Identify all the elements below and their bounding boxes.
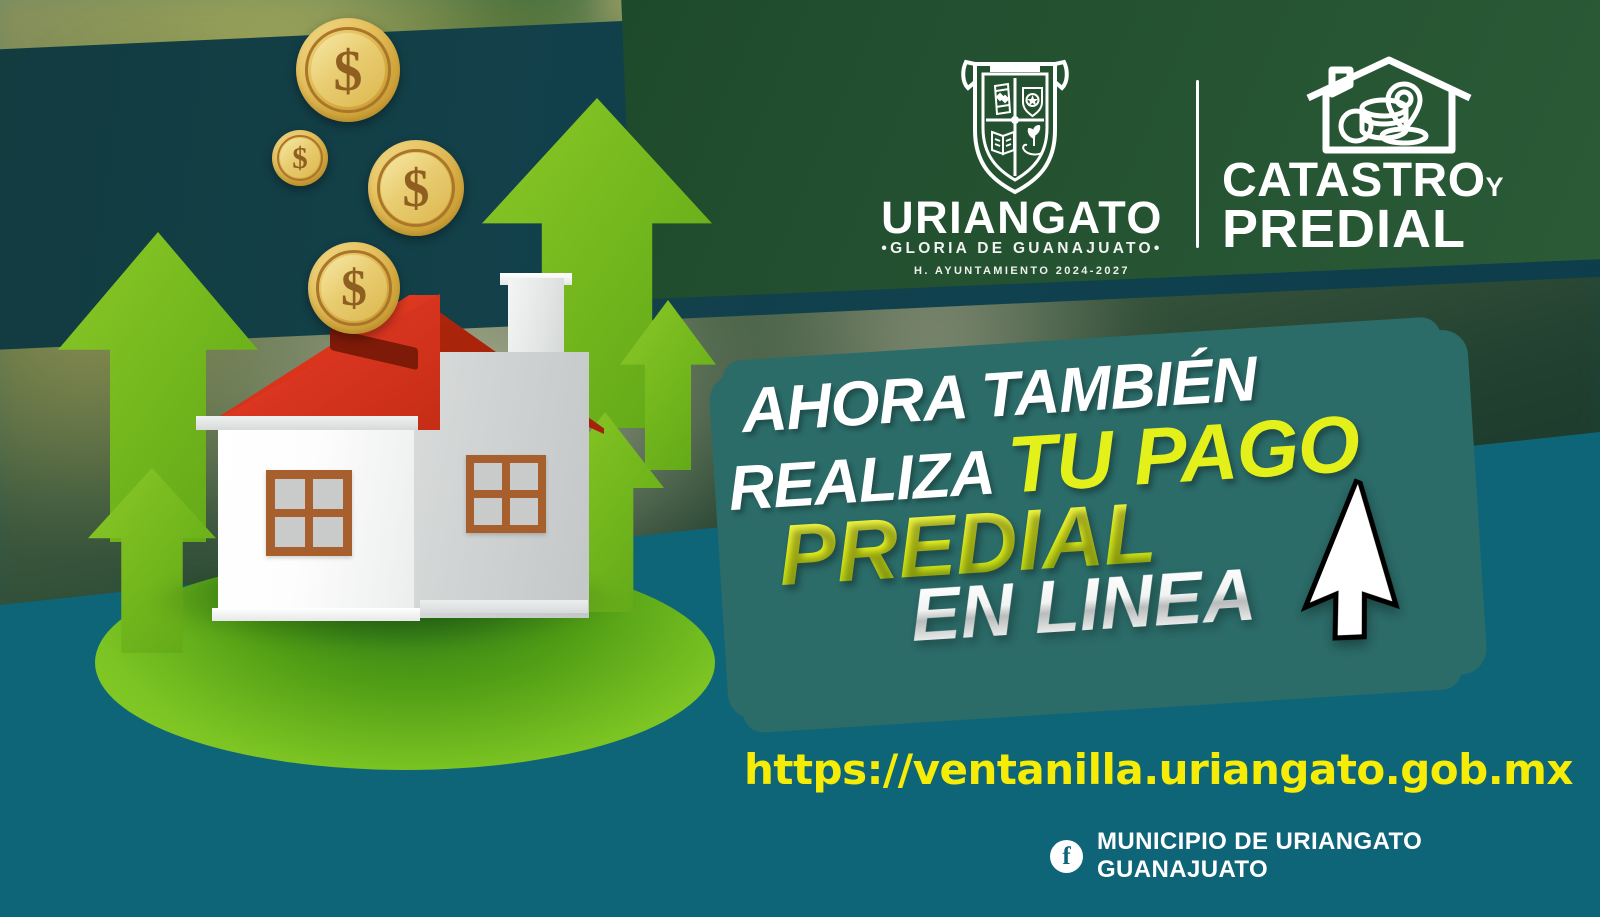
facebook-page-name[interactable]: MUNICIPIO DE URIANGATO GUANAJUATO — [1097, 828, 1600, 884]
municipal-coat-of-arms-icon — [950, 52, 1080, 207]
roof-edge-trim — [196, 416, 418, 430]
window-pane — [275, 517, 305, 547]
coin-2: $ — [272, 130, 328, 186]
hand-plant-glyph — [1023, 126, 1043, 154]
house-with-coins-and-map-pin-icon — [1300, 52, 1478, 162]
star-shield-glyph — [1023, 88, 1042, 116]
window-pane — [510, 498, 538, 525]
window-pane — [474, 498, 502, 525]
house-base-side — [420, 600, 588, 613]
window-pane — [474, 463, 502, 490]
vertical-divider — [1196, 80, 1199, 248]
coin-1: $ — [296, 18, 400, 122]
open-book-glyph — [992, 132, 1014, 154]
municipality-tagline: •GLORIA DE GUANAJUATO• — [872, 240, 1172, 258]
textile-glyph — [995, 84, 1010, 114]
coin-dollar-symbol: $ — [368, 140, 464, 236]
coin-dollar-symbol: $ — [272, 130, 328, 186]
window-pane — [510, 463, 538, 490]
social-media-row[interactable]: f MUNICIPIO DE URIANGATO GUANAJUATO — [1050, 828, 1600, 884]
municipality-administration: H. AYUNTAMIENTO 2024-2027 — [872, 265, 1172, 277]
coin-4: $ — [308, 242, 400, 334]
house-base-front — [212, 608, 420, 621]
coin-3: $ — [368, 140, 464, 236]
coin-dollar-symbol: $ — [308, 242, 400, 334]
window-pane — [313, 517, 343, 547]
department-line-2: PREDIAL — [1222, 204, 1552, 255]
window-pane — [275, 479, 305, 509]
coin-dollar-symbol: $ — [296, 18, 400, 122]
department-title: CATASTROY PREDIAL — [1222, 158, 1552, 255]
municipality-name: URIANGATO — [872, 192, 1172, 244]
department-conjunction: Y — [1486, 172, 1504, 202]
window-pane — [313, 479, 343, 509]
house-window-front — [266, 470, 352, 556]
house-window-side — [466, 455, 546, 533]
promotional-banner: $ $ $ $ — [0, 0, 1600, 917]
facebook-icon[interactable]: f — [1050, 840, 1083, 873]
payment-portal-url[interactable]: https://ventanilla.uriangato.gob.mx — [744, 745, 1573, 794]
